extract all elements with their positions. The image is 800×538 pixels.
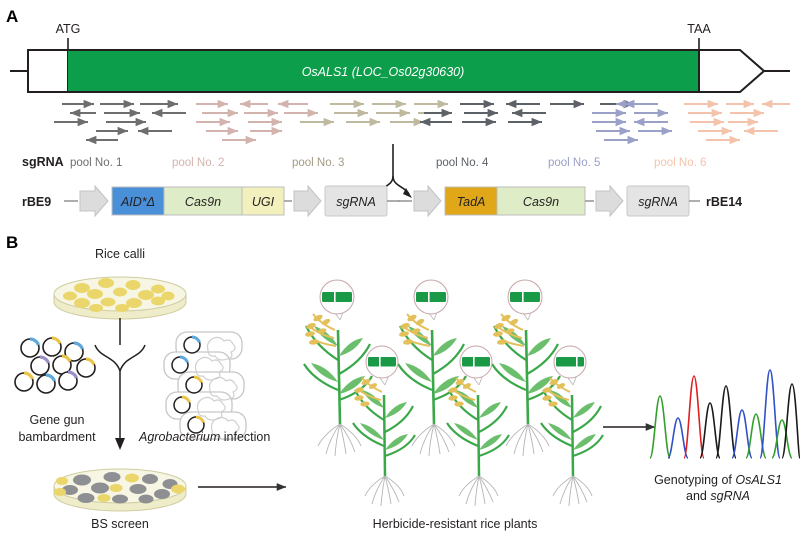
construct-name-rbe14: rBE14: [706, 195, 742, 209]
promoter-arrow-icon-3: [414, 186, 441, 216]
rice-plants-group: [304, 280, 603, 506]
genotyping-label-line2-italic: sgRNA: [710, 489, 750, 503]
rice-plant: [353, 346, 415, 506]
pool-label-4: pool No. 4: [436, 157, 489, 169]
element-label-cas9n-rbe9: Cas9n: [185, 195, 221, 209]
rice-plant: [492, 280, 560, 456]
taa-marker: TAA: [687, 22, 711, 50]
bs-screen-label: BS screen: [91, 517, 149, 531]
genotyping-label-line1: Genotyping of OsALS1: [654, 473, 782, 487]
chromatogram: [650, 370, 800, 458]
agrobacterium-label: Agrobacterium infection: [138, 430, 270, 444]
atg-label: ATG: [56, 22, 81, 36]
construct-rbe14: TadA Cas9n sgRNA: [398, 186, 700, 216]
promoter-arrow-icon: [80, 186, 108, 216]
rice-calli-label: Rice calli: [95, 247, 145, 261]
sgrna-row-label: sgRNA: [22, 155, 64, 169]
pool-label-2: pool No. 2: [172, 157, 224, 169]
sgrna-arrow-field: [54, 104, 790, 140]
petri-dish-rice-calli: [54, 277, 186, 319]
taa-label: TAA: [687, 22, 711, 36]
genotyping-label-line2: and sgRNA: [686, 489, 750, 503]
pool-5-arrows: [592, 104, 672, 140]
atg-marker: ATG: [56, 22, 81, 50]
rice-plant: [447, 346, 509, 506]
agrobacterium-icon: [164, 332, 246, 440]
agrobacterium-label-rest: infection: [220, 430, 270, 444]
panel-letter-a: A: [6, 7, 18, 26]
pool-label-6: pool No. 6: [654, 157, 706, 169]
pool-label-5: pool No. 5: [548, 157, 600, 169]
promoter-arrow-icon-2: [294, 186, 321, 216]
element-label-tada: TadA: [457, 195, 486, 209]
pool-6-arrows: [684, 104, 790, 140]
gene-gun-label-line2: bambardment: [18, 430, 96, 444]
promoter-arrow-icon-4: [596, 186, 623, 216]
pool-1-arrows: [54, 104, 186, 140]
genotyping-label-line1-italic: OsALS1: [735, 473, 782, 487]
construct-rbe9: AID*Δ Cas9n UGI sgRNA: [64, 186, 400, 216]
panel-letter-b: B: [6, 233, 18, 252]
plasmid-cluster-icon: [15, 338, 95, 393]
rice-plants-label: Herbicide-resistant rice plants: [373, 517, 538, 531]
petri-dish-bs-screen: [54, 469, 186, 511]
pool-label-3: pool No. 3: [292, 157, 344, 169]
rice-plant: [398, 280, 466, 456]
transform-arrow: [95, 318, 145, 442]
gene-name-label: OsALS1 (LOC_Os02g30630): [302, 65, 465, 79]
rice-plant: [304, 280, 372, 456]
element-label-ugi: UGI: [252, 195, 275, 209]
element-label-cas9n-rbe14: Cas9n: [523, 195, 559, 209]
element-label-aid: AID*Δ: [120, 195, 155, 209]
genotyping-label-line2-pre: and: [686, 489, 710, 503]
construct-name-rbe9: rBE9: [22, 195, 51, 209]
transform-arrowhead: [115, 438, 125, 450]
pool-label-1: pool No. 1: [70, 157, 122, 169]
agrobacterium-label-italic: Agrobacterium: [138, 430, 220, 444]
genotyping-label-line1-pre: Genotyping of: [654, 473, 735, 487]
element-label-sgrna-rbe9: sgRNA: [336, 195, 376, 209]
pool-2-arrows: [196, 104, 318, 140]
element-label-sgrna-rbe14: sgRNA: [638, 195, 678, 209]
figure-root: A OsALS1 (LOC_Os02g30630) ATG TAA: [0, 0, 800, 538]
gene-gun-label-line1: Gene gun: [30, 413, 85, 427]
gene-model: OsALS1 (LOC_Os02g30630): [10, 50, 790, 92]
rice-plant: [541, 346, 603, 506]
